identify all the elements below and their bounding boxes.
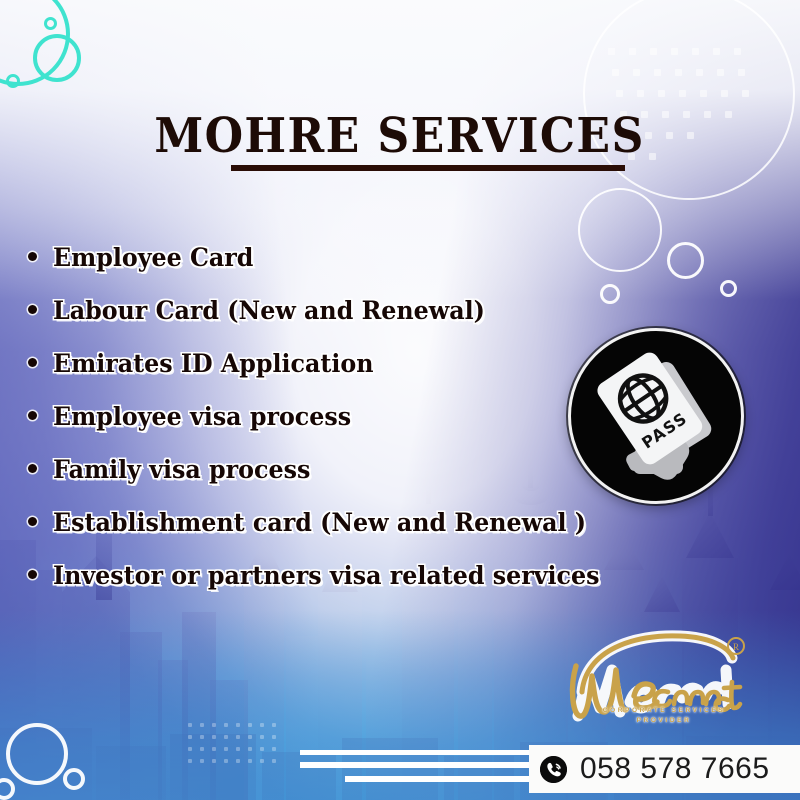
bullet-dot-icon [28, 358, 37, 367]
service-item: Employee Card [28, 243, 688, 275]
service-item-label: Investor or partners visa related servic… [53, 561, 599, 591]
service-item: Labour Card (New and Renewal) [28, 296, 688, 328]
page-title: MOHRE SERVICES [155, 112, 645, 166]
passport-badge: PASS [568, 328, 744, 504]
service-item-label: Employee visa process [53, 402, 351, 432]
white-circle-bottom-small-icon [63, 768, 85, 790]
poster-canvas: MOHRE SERVICES Employee CardLabour Card … [0, 0, 800, 800]
we-connect-logo: R We connect CORPORATE SERVICES PROV [556, 630, 750, 742]
bullet-dot-icon [28, 464, 37, 473]
bullet-dot-icon [28, 411, 37, 420]
svg-text:R: R [733, 642, 739, 652]
brand-we: We [668, 663, 670, 665]
phone-number: 058 578 7665 [580, 752, 770, 786]
bullet-dot-icon [28, 570, 37, 579]
service-item-label: Labour Card (New and Renewal) [53, 296, 485, 326]
white-circle-tiny-icon [720, 280, 737, 297]
contact-phone-strip[interactable]: 058 578 7665 [529, 745, 800, 793]
service-item-label: Emirates ID Application [53, 349, 373, 379]
logo-tagline: CORPORATE SERVICES PROVIDER [584, 706, 744, 726]
teal-circle-medium-icon [33, 34, 81, 82]
service-item-label: Employee Card [53, 243, 253, 273]
logo-tagline-line1: CORPORATE SERVICES [584, 706, 744, 716]
bullet-dot-icon [28, 305, 37, 314]
registered-mark-icon: R [728, 638, 744, 654]
phone-call-icon [540, 756, 567, 783]
logo-tagline-line2: PROVIDER [584, 716, 744, 726]
title-underline [231, 165, 625, 171]
teal-circle-tiny-icon [6, 74, 20, 88]
dot-grid-pattern-secondary-icon [188, 723, 288, 775]
page-title-container: MOHRE SERVICES [0, 112, 800, 166]
teal-circle-small-icon [44, 17, 57, 30]
bullet-dot-icon [28, 252, 37, 261]
white-circle-bottom-large-icon [6, 723, 68, 785]
brand-connect: connect [668, 665, 672, 667]
service-item-label: Family visa process [53, 455, 310, 485]
service-item: Investor or partners visa related servic… [28, 561, 688, 593]
bullet-dot-icon [28, 517, 37, 526]
service-item: Establishment card (New and Renewal ) [28, 508, 688, 540]
service-item-label: Establishment card (New and Renewal ) [53, 508, 586, 538]
